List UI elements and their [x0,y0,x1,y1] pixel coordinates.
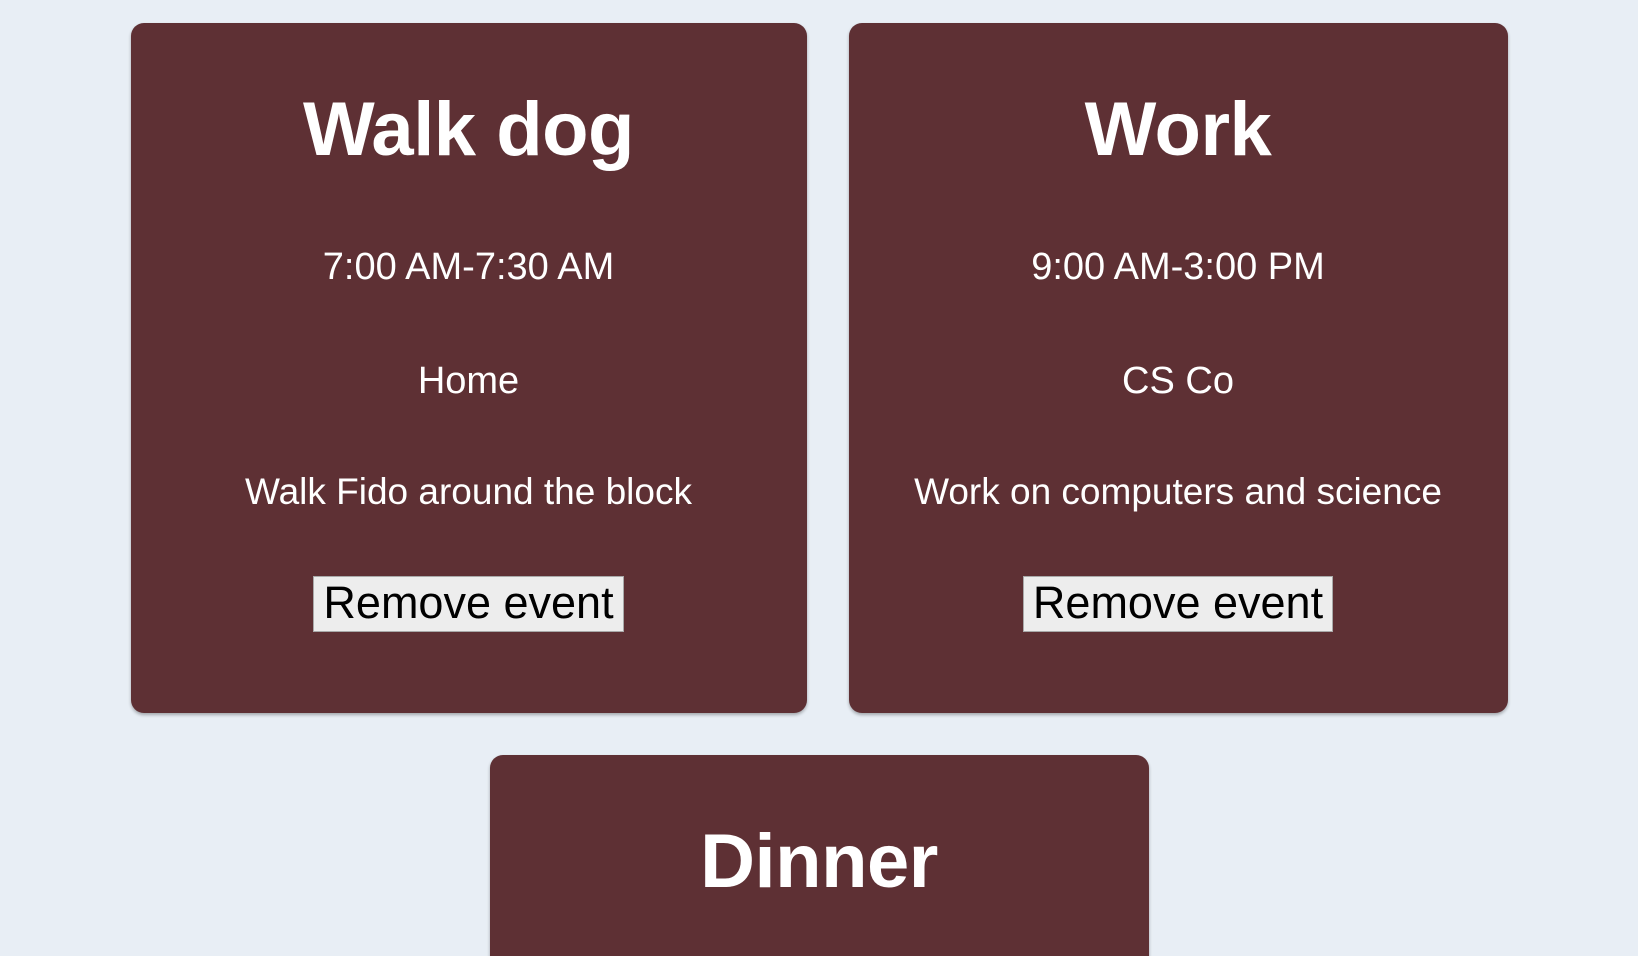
event-title: Work [1085,87,1272,172]
event-time-range: 7:00 AM-7:30 AM [323,246,615,290]
remove-event-button[interactable]: Remove event [1023,576,1333,632]
event-card-list: Walk dog 7:00 AM-7:30 AM Home Walk Fido … [27,23,1611,956]
event-description: Walk Fido around the block [245,471,692,514]
event-card-walk-dog[interactable]: Walk dog 7:00 AM-7:30 AM Home Walk Fido … [131,23,807,713]
event-location: CS Co [1122,360,1234,404]
event-time-range: 9:00 AM-3:00 PM [1031,246,1325,290]
remove-event-button[interactable]: Remove event [313,576,623,632]
event-card-dinner[interactable]: Dinner Remove event [490,755,1149,956]
event-card-work[interactable]: Work 9:00 AM-3:00 PM CS Co Work on compu… [849,23,1508,713]
event-board: Walk dog 7:00 AM-7:30 AM Home Walk Fido … [0,0,1638,956]
event-title: Dinner [700,819,938,904]
event-location: Home [418,360,519,404]
event-title: Walk dog [303,87,634,172]
event-description: Work on computers and science [914,471,1442,514]
